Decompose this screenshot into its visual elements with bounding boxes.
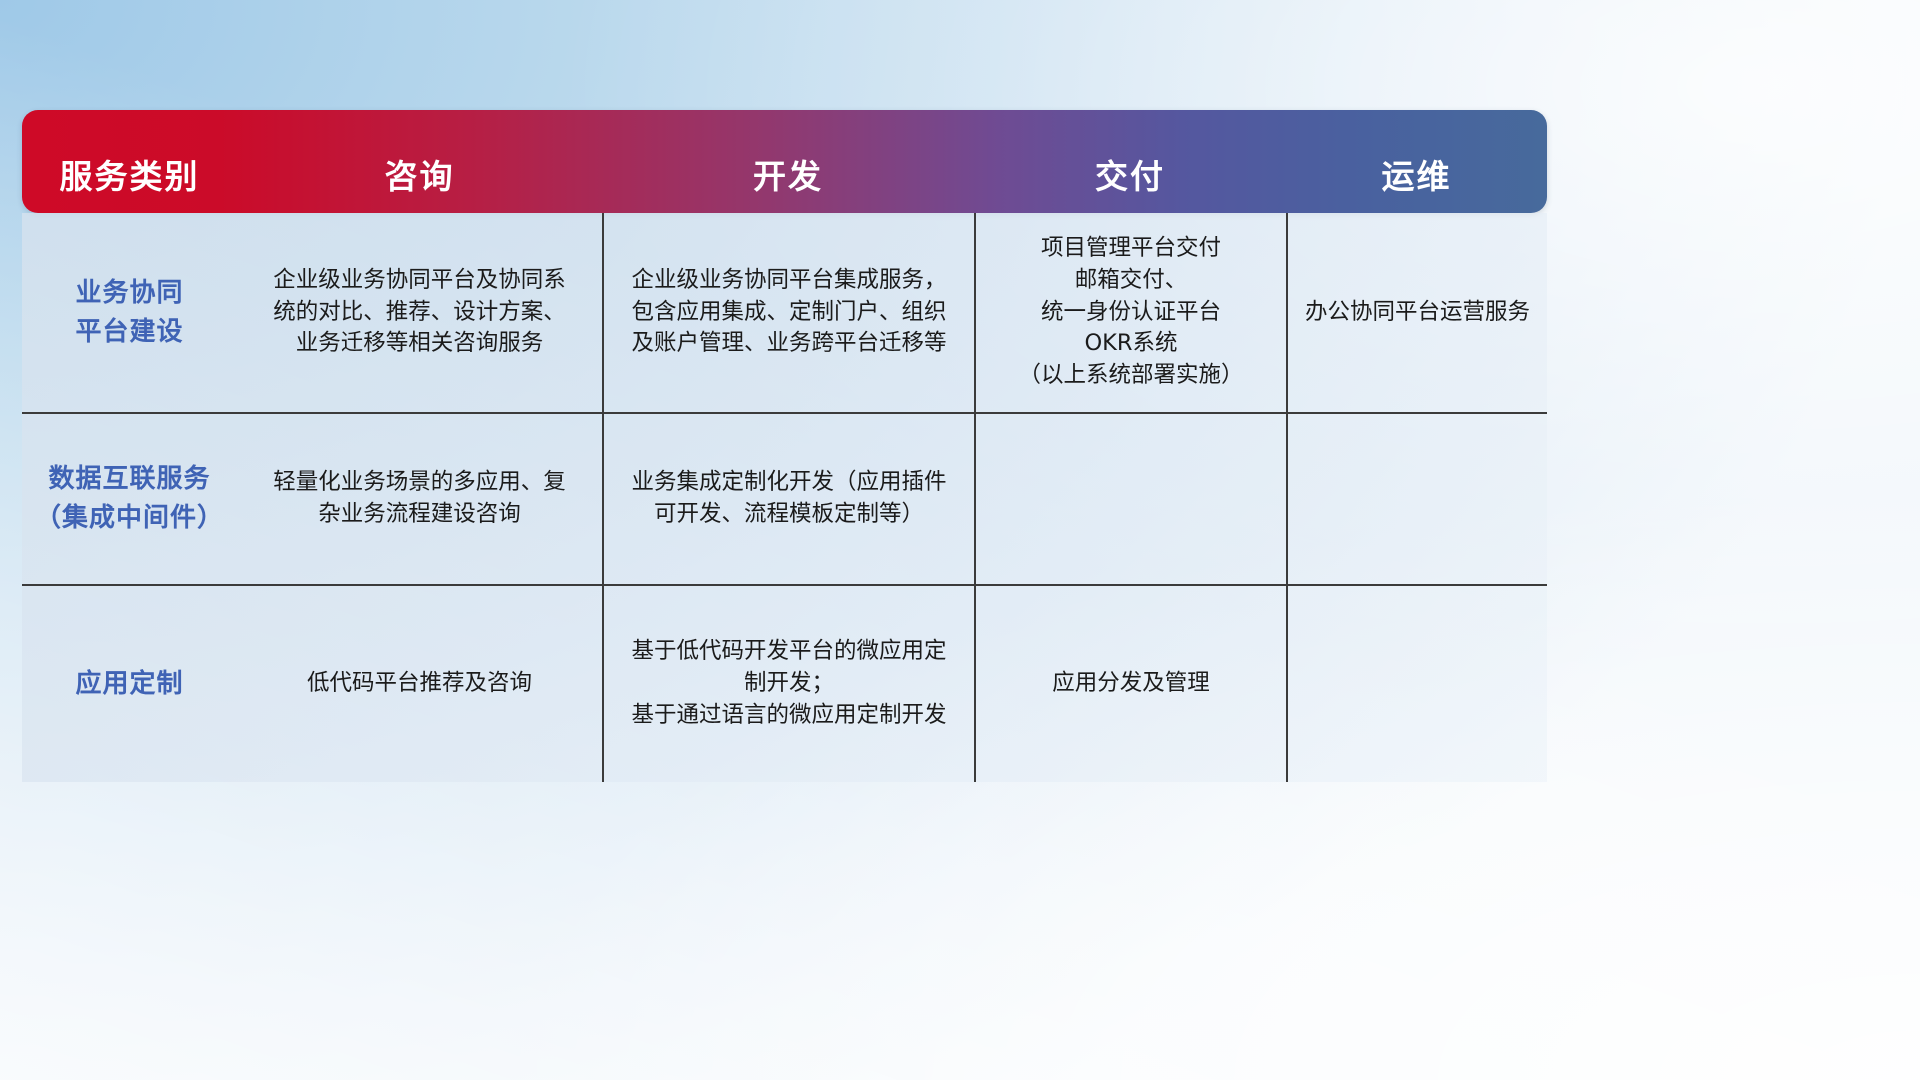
table-body: 业务协同 平台建设 企业级业务协同平台及协同系 统的对比、推荐、设计方案、 业务… xyxy=(22,213,1547,782)
column-header-label: 咨询 xyxy=(385,157,455,196)
column-header-label: 服务类别 xyxy=(60,157,200,196)
cell-row3-operations xyxy=(1286,586,1547,782)
table-row: 数据互联服务 （集成中间件） 轻量化业务场景的多应用、复 杂业务流程建设咨询 业… xyxy=(22,414,1547,586)
table-row: 应用定制 低代码平台推荐及咨询 基于低代码开发平台的微应用定 制开发； 基于通过… xyxy=(22,586,1547,782)
cell-row1-operations: 办公协同平台运营服务 xyxy=(1286,213,1547,412)
cell-row3-consulting: 低代码平台推荐及咨询 xyxy=(237,586,602,782)
cell-row3-delivery: 应用分发及管理 xyxy=(974,586,1286,782)
cell-row1-development: 企业级业务协同平台集成服务， 包含应用集成、定制门户、组织 及账户管理、业务跨平… xyxy=(602,213,974,412)
cell-row2-consulting: 轻量化业务场景的多应用、复 杂业务流程建设咨询 xyxy=(237,414,602,584)
row-label-application-customization: 应用定制 xyxy=(22,586,237,782)
column-header-service-category: 服务类别 xyxy=(22,160,237,213)
column-header-label: 运维 xyxy=(1382,157,1452,196)
cell-row1-delivery: 项目管理平台交付 邮箱交付、 统一身份认证平台 OKR系统 （以上系统部署实施） xyxy=(974,213,1286,412)
cell-row1-consulting: 企业级业务协同平台及协同系 统的对比、推荐、设计方案、 业务迁移等相关咨询服务 xyxy=(237,213,602,412)
column-header-label: 开发 xyxy=(753,157,823,196)
column-header-development: 开发 xyxy=(602,160,974,213)
column-header-operations: 运维 xyxy=(1286,160,1547,213)
row-label-data-interconnection: 数据互联服务 （集成中间件） xyxy=(22,414,237,584)
column-header-consulting: 咨询 xyxy=(237,160,602,213)
table-header-row: 服务类别 咨询 开发 交付 运维 xyxy=(22,110,1547,213)
service-matrix-table: 服务类别 咨询 开发 交付 运维 业务协同 平台建设 企业级业务协同平台及协同系… xyxy=(22,110,1547,782)
row-label-business-collaboration: 业务协同 平台建设 xyxy=(22,213,237,412)
column-header-label: 交付 xyxy=(1095,157,1165,196)
cell-row2-delivery xyxy=(974,414,1286,584)
table-row: 业务协同 平台建设 企业级业务协同平台及协同系 统的对比、推荐、设计方案、 业务… xyxy=(22,213,1547,414)
column-header-delivery: 交付 xyxy=(974,160,1286,213)
cell-row3-development: 基于低代码开发平台的微应用定 制开发； 基于通过语言的微应用定制开发 xyxy=(602,586,974,782)
cell-row2-operations xyxy=(1286,414,1547,584)
cell-row2-development: 业务集成定制化开发（应用插件 可开发、流程模板定制等） xyxy=(602,414,974,584)
